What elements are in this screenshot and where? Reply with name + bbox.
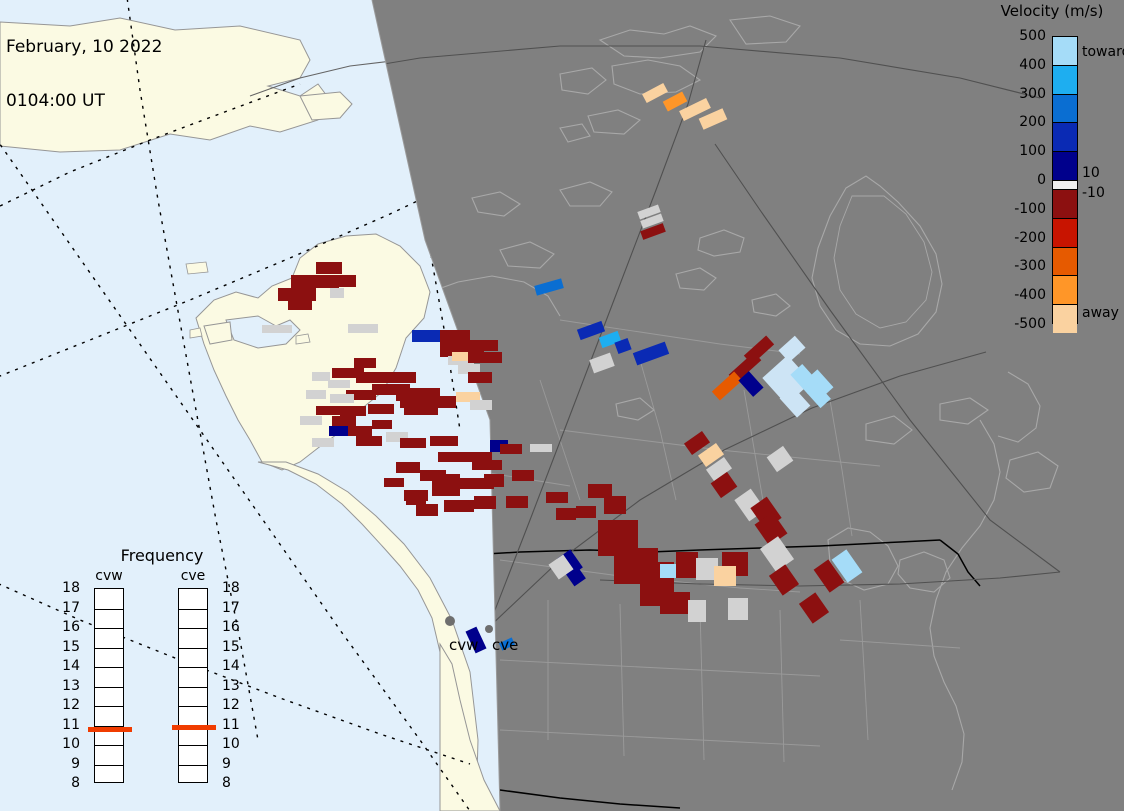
frequency-scale-label-12: 12 — [222, 697, 244, 713]
velocity-cell[interactable] — [530, 444, 552, 452]
frequency-tickline — [179, 667, 207, 668]
frequency-legend: Frequency cvw 18171615141312111098 cve 1… — [82, 546, 242, 786]
frequency-scale-label-11: 11 — [222, 717, 244, 733]
velocity-cell[interactable] — [288, 300, 312, 310]
velocity-cell[interactable] — [404, 404, 438, 415]
velocity-cell[interactable] — [354, 358, 376, 368]
frequency-tickline — [179, 609, 207, 610]
velocity-cell[interactable] — [312, 438, 334, 447]
date-label: February, 10 2022 — [6, 38, 162, 56]
frequency-tickline — [95, 745, 123, 746]
frequency-scale-label-9: 9 — [58, 756, 80, 772]
frequency-scale-label-14: 14 — [222, 658, 244, 674]
velocity-cell[interactable] — [330, 275, 356, 287]
velocity-cell[interactable] — [604, 496, 626, 514]
velocity-cell[interactable] — [468, 352, 502, 363]
velocity-cell[interactable] — [472, 460, 502, 470]
frequency-tickline — [179, 648, 207, 649]
colorbar-segment-0 — [1053, 180, 1077, 189]
frequency-scale-label-13: 13 — [58, 678, 80, 694]
frequency-tickline — [179, 687, 207, 688]
frequency-marker-cve — [172, 725, 216, 730]
velocity-colorbar: Velocity (m/s) 5004003002001000-100-200-… — [980, 0, 1124, 340]
velocity-cell[interactable] — [728, 598, 748, 620]
colorbar-tick--400: -400 — [1014, 287, 1046, 303]
radar-site-dot-cve[interactable] — [485, 625, 493, 633]
frequency-scale-label-17: 17 — [58, 600, 80, 616]
colorbar-title: Velocity (m/s) — [980, 2, 1124, 20]
colorbar-segment-350 — [1053, 65, 1077, 94]
colorbar-segment--150 — [1053, 218, 1077, 247]
velocity-cell[interactable] — [500, 444, 522, 454]
frequency-tickline — [179, 765, 207, 766]
frequency-scale-label-18: 18 — [58, 580, 80, 596]
velocity-cell[interactable] — [588, 484, 612, 498]
radar-site-label-cvw[interactable]: cvw — [449, 636, 478, 654]
frequency-scale-label-10: 10 — [222, 736, 244, 752]
frequency-scale-label-16: 16 — [222, 619, 244, 635]
velocity-cell[interactable] — [406, 496, 426, 505]
frequency-column-label-cvw: cvw — [82, 568, 136, 584]
colorbar-tick--500: -500 — [1014, 316, 1046, 332]
colorbar-tick-labels: 5004003002001000-100-200-300-400-500 — [980, 30, 1048, 330]
velocity-cell[interactable] — [474, 496, 496, 509]
frequency-scale-label-15: 15 — [222, 639, 244, 655]
colorbar-label-neg-threshold: -10 — [1082, 185, 1105, 201]
frequency-scale-label-8: 8 — [58, 775, 80, 791]
colorbar-gradient[interactable] — [1052, 36, 1078, 324]
velocity-cell[interactable] — [316, 262, 342, 274]
frequency-scale-label-16: 16 — [58, 619, 80, 635]
colorbar-segment--250 — [1053, 247, 1077, 276]
velocity-cell[interactable] — [556, 508, 576, 520]
velocity-cell[interactable] — [506, 496, 528, 508]
colorbar-tick--200: -200 — [1014, 230, 1046, 246]
velocity-cell[interactable] — [332, 416, 356, 426]
velocity-cell[interactable] — [396, 462, 420, 473]
frequency-scale-label-11: 11 — [58, 717, 80, 733]
velocity-cell[interactable] — [306, 390, 326, 399]
timestamp-block: February, 10 2022 0104:00 UT — [6, 2, 162, 146]
velocity-cell[interactable] — [660, 592, 690, 614]
frequency-scale-label-9: 9 — [222, 756, 244, 772]
velocity-cell[interactable] — [356, 372, 416, 383]
colorbar-segment--450 — [1053, 304, 1077, 333]
frequency-tickline — [95, 726, 123, 727]
radar-site-dot-cvw[interactable] — [445, 616, 455, 626]
velocity-cell[interactable] — [368, 404, 394, 414]
fan-plot-stage: February, 10 2022 0104:00 UT Velocity (m… — [0, 0, 1124, 811]
colorbar-label-away: away — [1082, 305, 1119, 321]
frequency-tickline — [95, 706, 123, 707]
frequency-bar-cvw[interactable] — [94, 588, 124, 783]
frequency-scale-label-18: 18 — [222, 580, 244, 596]
frequency-tickline — [95, 687, 123, 688]
colorbar-tick-100: 100 — [1019, 143, 1046, 159]
frequency-tickline — [179, 628, 207, 629]
velocity-cell[interactable] — [329, 426, 351, 436]
velocity-cell[interactable] — [456, 340, 498, 351]
velocity-cell[interactable] — [714, 566, 736, 586]
frequency-tickline — [179, 706, 207, 707]
colorbar-tick--100: -100 — [1014, 201, 1046, 217]
velocity-cell[interactable] — [384, 478, 404, 487]
frequency-tickline — [95, 667, 123, 668]
velocity-cell[interactable] — [312, 372, 330, 381]
time-label: 0104:00 UT — [6, 92, 162, 110]
frequency-tickline — [95, 609, 123, 610]
frequency-scale-label-13: 13 — [222, 678, 244, 694]
velocity-cell[interactable] — [470, 400, 492, 410]
colorbar-tick-500: 500 — [1019, 28, 1046, 44]
frequency-tickline — [95, 765, 123, 766]
velocity-cell[interactable] — [356, 436, 382, 446]
velocity-cell[interactable] — [546, 492, 568, 503]
velocity-cell[interactable] — [430, 436, 458, 446]
frequency-tickline — [95, 648, 123, 649]
colorbar-segment--350 — [1053, 275, 1077, 304]
frequency-tickline — [95, 628, 123, 629]
velocity-cell[interactable] — [576, 506, 596, 518]
velocity-cell[interactable] — [300, 416, 322, 425]
velocity-cell[interactable] — [316, 406, 340, 415]
frequency-tickline — [179, 745, 207, 746]
colorbar-label-pos-threshold: 10 — [1082, 165, 1100, 181]
frequency-column-label-cve: cve — [166, 568, 220, 584]
colorbar-tick-400: 400 — [1019, 57, 1046, 73]
frequency-marker-cvw — [88, 727, 132, 732]
velocity-cell[interactable] — [348, 324, 378, 333]
colorbar-tick-200: 200 — [1019, 114, 1046, 130]
velocity-cell[interactable] — [468, 372, 492, 383]
frequency-scale-label-8: 8 — [222, 775, 244, 791]
velocity-cell[interactable] — [660, 564, 676, 578]
frequency-legend-title: Frequency — [82, 546, 242, 565]
colorbar-tick--300: -300 — [1014, 258, 1046, 274]
colorbar-segment-450 — [1053, 37, 1077, 65]
velocity-cell[interactable] — [688, 600, 706, 622]
velocity-cell[interactable] — [676, 552, 698, 578]
velocity-cell[interactable] — [262, 325, 292, 333]
velocity-cell[interactable] — [348, 426, 372, 436]
velocity-cell[interactable] — [444, 500, 474, 512]
velocity-cell[interactable] — [372, 420, 392, 429]
colorbar-segment--50 — [1053, 189, 1077, 218]
frequency-scale-label-17: 17 — [222, 600, 244, 616]
velocity-cell[interactable] — [340, 406, 366, 416]
frequency-bar-cve[interactable] — [178, 588, 208, 783]
velocity-cell[interactable] — [278, 288, 316, 301]
colorbar-segment-50 — [1053, 151, 1077, 180]
velocity-cell[interactable] — [512, 470, 534, 481]
frequency-scale-cve: 18171615141312111098 — [222, 588, 244, 783]
frequency-scale-label-12: 12 — [58, 697, 80, 713]
colorbar-label-toward: toward — [1082, 44, 1124, 60]
colorbar-segment-250 — [1053, 94, 1077, 123]
velocity-cell[interactable] — [484, 474, 504, 487]
frequency-scale-label-10: 10 — [58, 736, 80, 752]
frequency-scale-cvw: 18171615141312111098 — [58, 588, 80, 783]
velocity-cell[interactable] — [330, 394, 354, 403]
velocity-cell[interactable] — [416, 504, 438, 516]
velocity-cell[interactable] — [328, 380, 350, 388]
radar-site-label-cve[interactable]: cve — [492, 636, 518, 654]
colorbar-side-labels: toward10-10away — [1082, 30, 1124, 330]
colorbar-tick-300: 300 — [1019, 86, 1046, 102]
frequency-scale-label-14: 14 — [58, 658, 80, 674]
velocity-cell[interactable] — [400, 438, 426, 448]
colorbar-segment-150 — [1053, 122, 1077, 151]
velocity-cell[interactable] — [330, 288, 344, 298]
frequency-scale-label-15: 15 — [58, 639, 80, 655]
colorbar-tick-0: 0 — [1037, 172, 1046, 188]
